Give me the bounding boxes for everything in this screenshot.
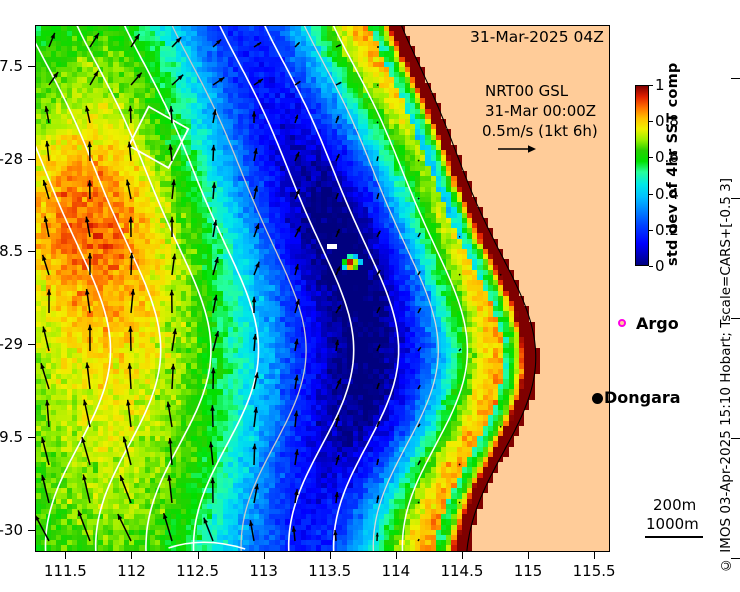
figure-right-tick (731, 318, 740, 319)
argo-legend-label: Argo (636, 314, 679, 333)
colorbar-tick (649, 121, 653, 122)
colorbar (635, 85, 649, 266)
y-axis-tick (28, 66, 35, 67)
x-axis-tick (198, 552, 199, 559)
figure-right-tick (731, 198, 740, 199)
isobath-200m-label: 200m (653, 496, 696, 515)
isobath-1000m-label: 1000m (646, 515, 699, 534)
x-axis-tick (396, 552, 397, 559)
figure-right-tick (731, 438, 740, 439)
vector-scale-label: 0.5m/s (1kt 6h) (482, 122, 598, 142)
figure-right-tick (731, 558, 740, 559)
x-axis-tick (528, 552, 529, 559)
y-axis-tick-label: -30 (0, 521, 23, 539)
credit-text: © IMOS 03-Apr-2025 15:10 Hobart; Tscale=… (718, 178, 734, 573)
isobath-legend-rule (645, 536, 703, 538)
x-axis-tick (462, 552, 463, 559)
y-axis-tick-label: -29 (0, 335, 23, 353)
y-axis-tick (28, 530, 35, 531)
vector-key-arrow (497, 142, 537, 156)
y-axis-tick (28, 159, 35, 160)
x-axis-tick (264, 552, 265, 559)
colorbar-tick-label: 0.8 (655, 112, 679, 130)
product-name-label: NRT00 GSL (485, 82, 568, 102)
product-time-label: 31-Mar 00:00Z (485, 102, 596, 122)
colorbar-tick-label: 0.4 (655, 185, 679, 203)
figure-right-tick (731, 78, 740, 79)
colorbar-tick-label: 0 (655, 257, 665, 275)
y-axis-tick-label: -29.5 (0, 428, 23, 446)
y-axis-tick (28, 437, 35, 438)
colorbar-tick (649, 157, 653, 158)
x-axis-tick (330, 552, 331, 559)
y-axis-tick (28, 251, 35, 252)
y-axis-tick (28, 344, 35, 345)
colorbar-tick (649, 194, 653, 195)
colorbar-tick-label: 0.2 (655, 221, 679, 239)
x-axis-tick (594, 552, 595, 559)
dongara-city-label: Dongara (604, 388, 681, 407)
y-axis-tick-label: -28.5 (0, 242, 23, 260)
dongara-city-dot-icon (592, 393, 603, 404)
figure-canvas: 31-Mar-2025 04Z NRT00 GSL 31-Mar 00:00Z … (0, 0, 740, 592)
argo-marker-icon (618, 319, 626, 327)
colorbar-tick-label: 1 (655, 76, 665, 94)
colorbar-tick (649, 230, 653, 231)
x-axis-tick (65, 552, 66, 559)
y-axis-tick-label: -28 (0, 150, 23, 168)
date-stamp-label: 31-Mar-2025 04Z (470, 28, 604, 46)
x-axis-tick (131, 552, 132, 559)
x-axis-tick-label: 115.5 (554, 562, 634, 580)
colorbar-tick (649, 85, 653, 86)
colorbar-tick (649, 266, 653, 267)
colorbar-tick-label: 0.6 (655, 148, 679, 166)
y-axis-tick-label: -27.5 (0, 57, 23, 75)
